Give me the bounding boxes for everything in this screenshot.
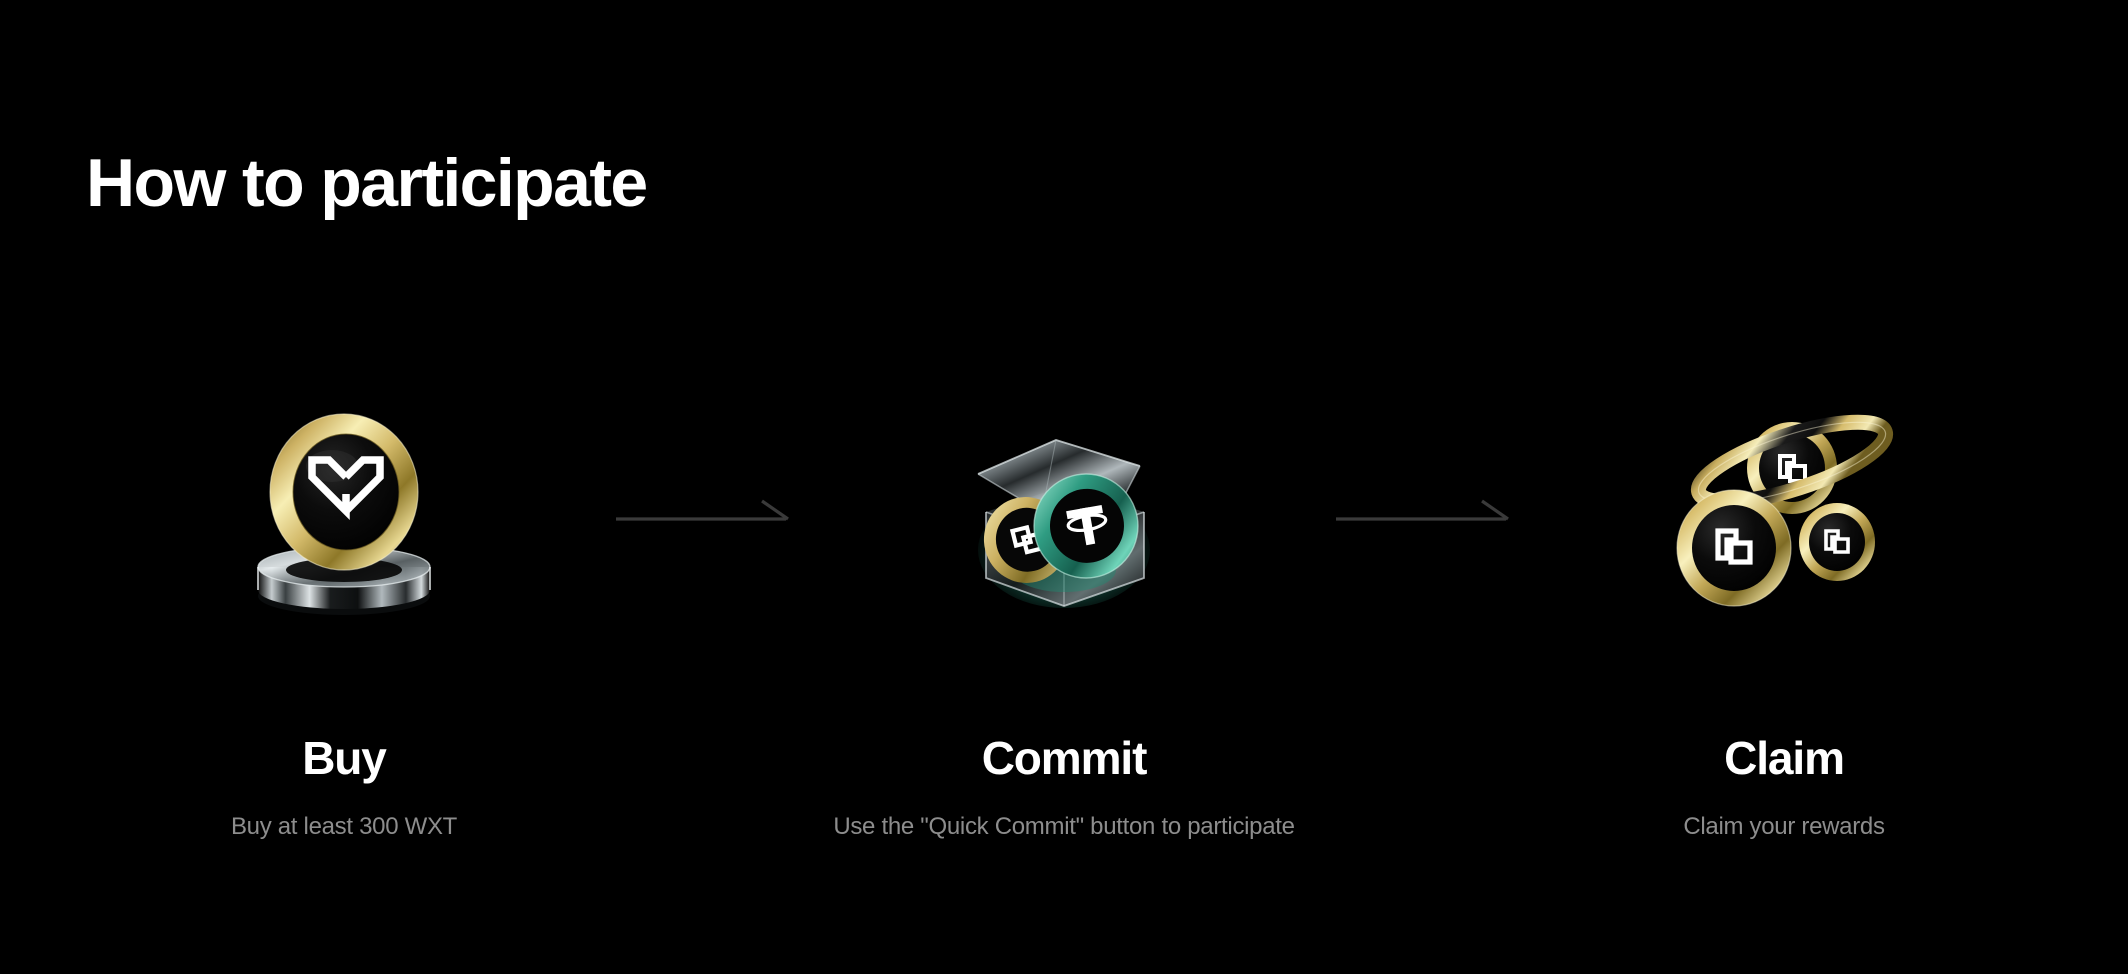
step-title: Claim <box>1724 735 1844 781</box>
gold-coins-with-ring-illustration <box>1634 400 1934 630</box>
page-title: How to participate <box>86 148 647 219</box>
step-description: Use the "Quick Commit" button to partici… <box>833 813 1294 842</box>
gold-coin-on-pedestal-illustration <box>194 400 494 630</box>
how-to-participate-section: How to participate <box>0 0 2128 974</box>
glass-chest-with-coins-illustration <box>914 400 1214 630</box>
large-gold-coin <box>1677 490 1791 606</box>
step-buy: Buy Buy at least 300 WXT <box>104 400 584 842</box>
step-title: Buy <box>302 735 386 781</box>
arrow-step2-to-step3 <box>1304 400 1544 630</box>
ringed-coins-graphic <box>1634 400 1934 630</box>
small-gold-coin <box>1799 503 1875 581</box>
arrow-right-icon <box>614 495 794 535</box>
step-description: Buy at least 300 WXT <box>231 813 457 842</box>
wxt-gold-coin <box>270 414 418 570</box>
arrow-step1-to-step2 <box>584 400 824 630</box>
chest-coins-graphic <box>914 400 1214 630</box>
step-description: Claim your rewards <box>1683 813 1884 842</box>
arrow-right-icon <box>1334 495 1514 535</box>
step-title: Commit <box>982 735 1147 781</box>
step-commit: Commit Use the "Quick Commit" button to … <box>824 400 1304 842</box>
coin-pedestal-graphic <box>194 400 494 630</box>
steps-row: Buy Buy at least 300 WXT <box>0 400 2128 900</box>
step-claim: Claim Claim your rewards <box>1544 400 2024 842</box>
